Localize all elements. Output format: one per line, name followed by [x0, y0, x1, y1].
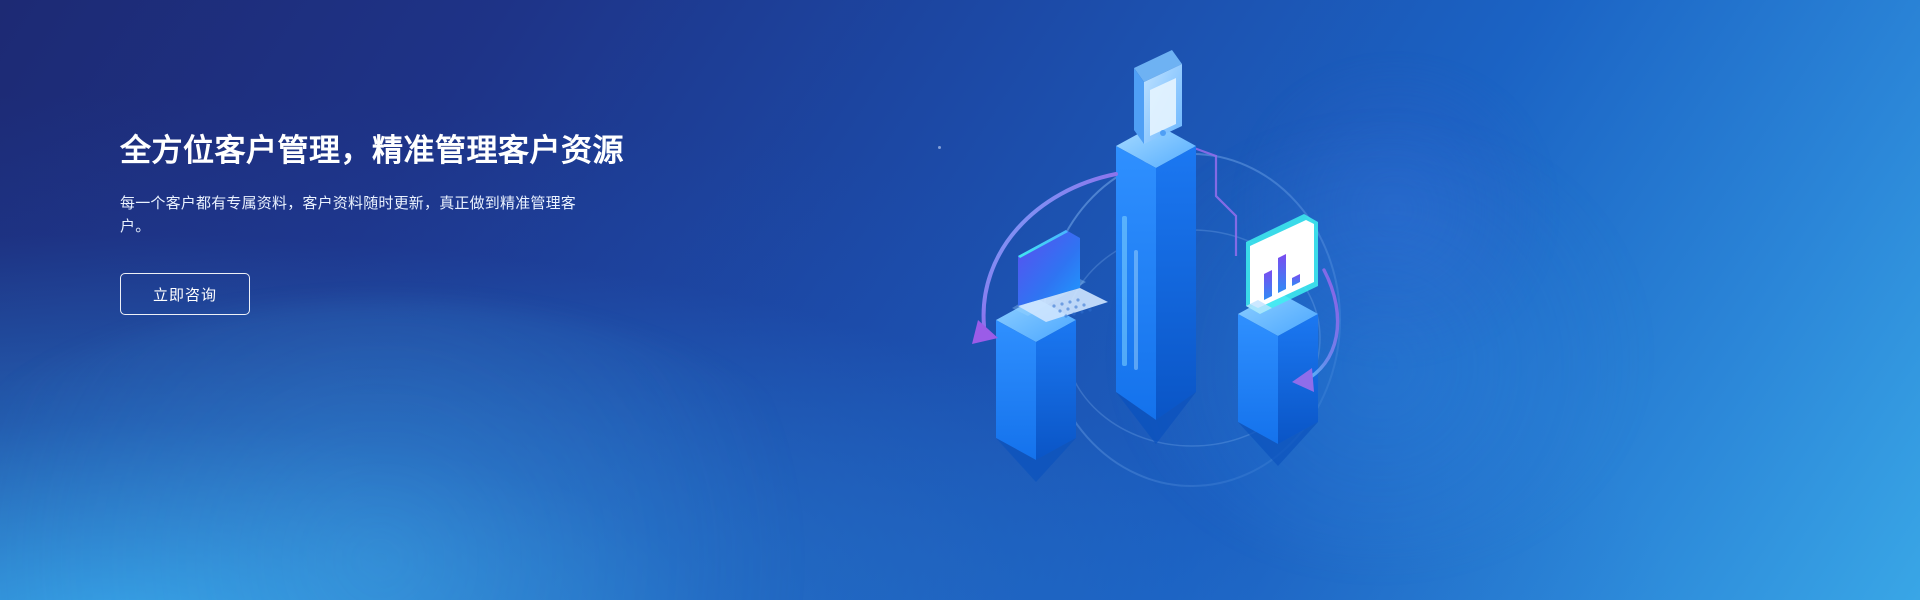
isometric-data-towers-illustration [920, 20, 1480, 580]
hero-description: 每一个客户都有专属资料，客户资料随时更新，真正做到精准管理客户。 [120, 192, 602, 238]
chart-screen [1246, 214, 1318, 314]
tablet-device [1134, 50, 1182, 144]
consult-now-button[interactable]: 立即咨询 [120, 273, 250, 315]
background-glow-bottom [0, 300, 880, 600]
hero-banner: 全方位客户管理，精准管理客户资源 每一个客户都有专属资料，客户资料随时更新，真正… [0, 0, 1920, 600]
page-title: 全方位客户管理，精准管理客户资源 [120, 130, 680, 172]
laptop-device [1012, 230, 1108, 322]
pillar-left [996, 298, 1076, 482]
pillar-center [1116, 124, 1196, 444]
hero-content: 全方位客户管理，精准管理客户资源 每一个客户都有专属资料，客户资料随时更新，真正… [120, 130, 680, 315]
